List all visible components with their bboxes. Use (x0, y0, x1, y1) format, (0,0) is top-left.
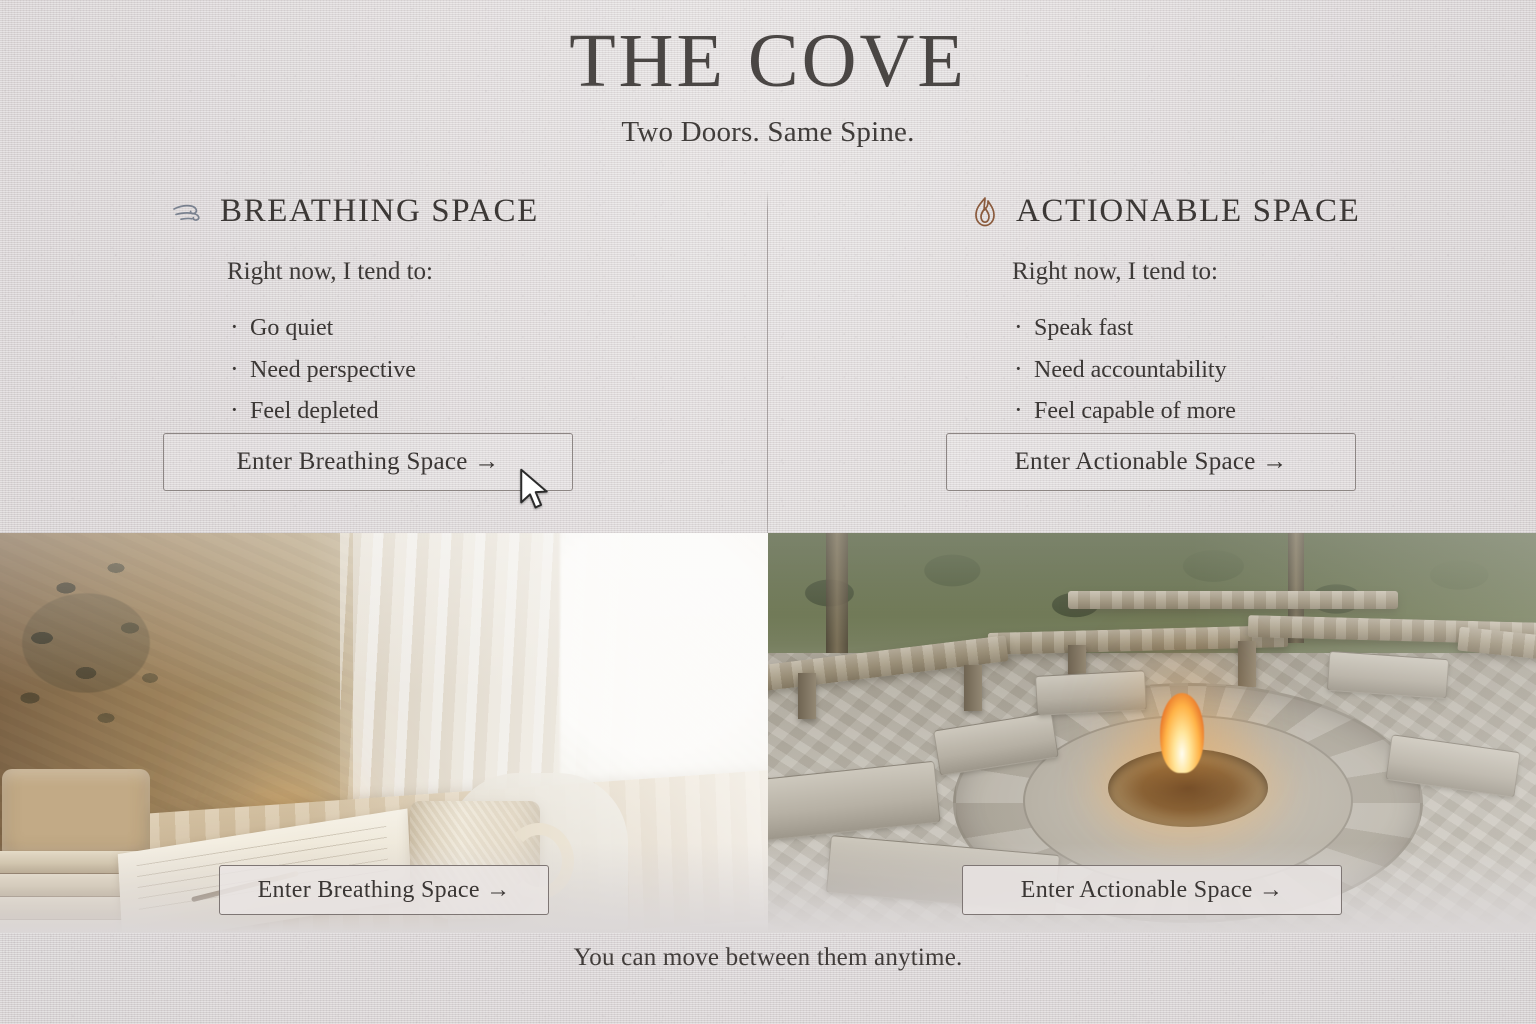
page-subtitle: Two Doors. Same Spine. (0, 116, 1536, 149)
masthead: THE COVE Two Doors. Same Spine. (0, 22, 1536, 149)
bench-leg (1238, 641, 1256, 687)
tree-trunk (826, 533, 848, 673)
breathing-space-heading: BREATHING SPACE (220, 193, 539, 230)
actionable-space-bullet-list: Speak fast Need accountability Feel capa… (0, 306, 1536, 431)
enter-breathing-space-image-button[interactable]: Enter Breathing Space → (219, 865, 549, 915)
breathing-space-photo: Enter Breathing Space → (0, 533, 768, 933)
footer-note: You can move between them anytime. (0, 944, 1536, 972)
fire-flame (1160, 693, 1204, 773)
bench (1068, 591, 1398, 609)
page-title: THE COVE (0, 22, 1536, 102)
bench-leg (964, 665, 982, 711)
list-item: Need accountability (1014, 348, 1536, 390)
page-root: THE COVE Two Doors. Same Spine. BREATHIN… (0, 0, 1536, 1024)
breathing-space-heading-row: BREATHING SPACE (0, 193, 768, 230)
bench-leg (798, 673, 816, 719)
list-item: Feel capable of more (1014, 389, 1536, 431)
actionable-space-photo: Enter Actionable Space → (768, 533, 1536, 933)
list-item: Speak fast (1014, 306, 1536, 348)
wind-icon (172, 195, 206, 229)
flame-icon (968, 195, 1002, 229)
enter-actionable-space-button[interactable]: Enter Actionable Space → (946, 433, 1356, 491)
actionable-space-prompt: Right now, I tend to: (0, 258, 1536, 286)
actionable-space-heading: ACTIONABLE SPACE (1016, 193, 1360, 230)
image-panels: Enter Breathing Space → (0, 533, 1536, 933)
choice-columns: BREATHING SPACE Right now, I tend to: Go… (0, 185, 1536, 535)
stone-slab (1035, 670, 1147, 716)
enter-actionable-space-image-button[interactable]: Enter Actionable Space → (962, 865, 1342, 915)
actionable-space-heading-row: ACTIONABLE SPACE (768, 193, 1536, 230)
plant (6, 543, 206, 793)
enter-breathing-space-button[interactable]: Enter Breathing Space → (163, 433, 573, 491)
column-actionable-space: ACTIONABLE SPACE Right now, I tend to: S… (768, 185, 1536, 535)
stone-slab (1327, 651, 1449, 699)
